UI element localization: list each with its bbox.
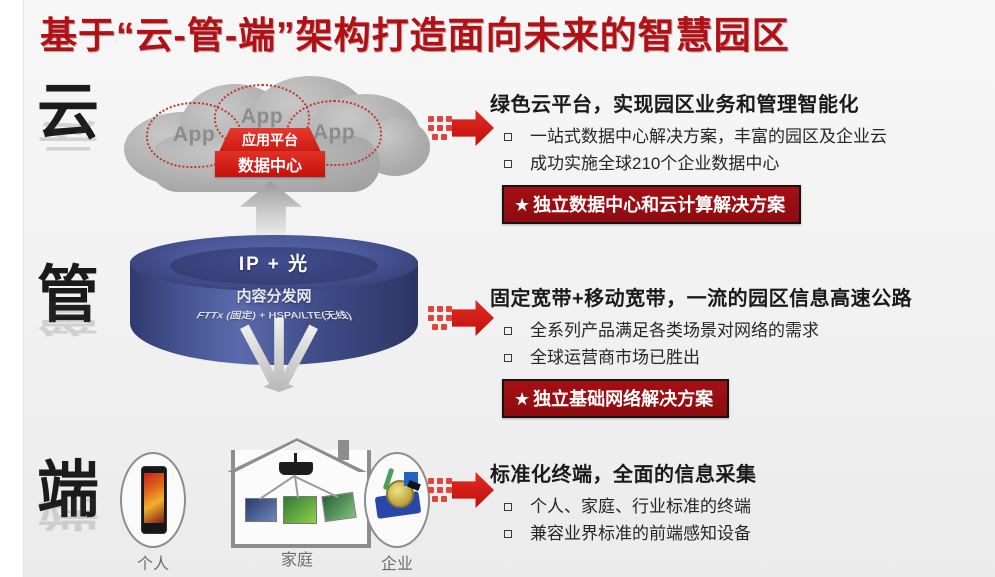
house-chimney bbox=[338, 440, 349, 460]
pillar-label-pipe-reflection: 管 bbox=[26, 307, 110, 329]
device-label-personal: 个人 bbox=[108, 550, 198, 574]
laptop-icon bbox=[245, 498, 277, 522]
section-terminal: 标准化终端，全面的信息采集 个人、家庭、行业标准的终端 兼容业界标准的前端感知设… bbox=[490, 458, 995, 547]
device-group-personal: 个人 bbox=[108, 452, 198, 574]
status-badge-cloud: ★独立数据中心和云计算解决方案 bbox=[502, 185, 801, 224]
red-arrow-icon-cloud bbox=[428, 108, 494, 148]
cylinder-line-1: IP + 光 bbox=[130, 249, 418, 276]
access-point-icon bbox=[279, 462, 313, 475]
cylinder-line-3: FTTx (固定) + HSPA/LTE(无线) bbox=[122, 309, 425, 322]
list-item: 一站式数据中心解决方案，丰富的园区及企业云 bbox=[490, 123, 995, 150]
meter-chip bbox=[404, 472, 418, 486]
house-icon bbox=[223, 442, 371, 544]
monitor-icon bbox=[283, 496, 317, 524]
left-margin bbox=[0, 0, 24, 577]
section-heading-terminal: 标准化终端，全面的信息采集 bbox=[490, 458, 995, 487]
phone-body bbox=[141, 466, 167, 534]
meter-icon bbox=[364, 452, 430, 548]
bullet-list-terminal: 个人、家庭、行业标准的终端 兼容业界标准的前端感知设备 bbox=[490, 493, 995, 547]
list-item: 兼容业界标准的前端感知设备 bbox=[490, 520, 995, 547]
smartphone-icon bbox=[120, 452, 186, 548]
meter-assembly bbox=[374, 468, 422, 530]
phone-screen bbox=[144, 473, 164, 523]
section-pipe: 固定宽带+移动宽带，一流的园区信息高速公路 全系列产品满足各类场景对网络的需求 … bbox=[490, 282, 995, 418]
page-title: 基于“云-管-端”架构打造面向未来的智慧园区 bbox=[40, 14, 940, 58]
section-heading-cloud: 绿色云平台，实现园区业务和管理智能化 bbox=[490, 88, 995, 117]
star-icon: ★ bbox=[514, 389, 530, 409]
bullet-list-pipe: 全系列产品满足各类场景对网络的需求 全球运营商市场已胜出 bbox=[490, 317, 995, 371]
list-item: 全系列产品满足各类场景对网络的需求 bbox=[490, 317, 995, 344]
pillar-label-terminal-reflection: 端 bbox=[26, 502, 110, 524]
pillar-label-cloud: 云 云 bbox=[26, 82, 110, 186]
arrow-head bbox=[452, 472, 494, 508]
section-heading-pipe: 固定宽带+移动宽带，一流的园区信息高速公路 bbox=[490, 282, 995, 311]
red-arrow-icon-pipe bbox=[428, 298, 494, 338]
slide-canvas: 基于“云-管-端”架构打造面向未来的智慧园区 云 云 管 管 端 端 App A… bbox=[0, 0, 995, 577]
list-item: 个人、家庭、行业标准的终端 bbox=[490, 493, 995, 520]
arrow-head bbox=[452, 110, 494, 146]
data-center-label: 数据中心 bbox=[215, 151, 325, 177]
status-badge-pipe-text: 独立基础网络解决方案 bbox=[533, 389, 713, 409]
list-item: 全球运营商市场已胜出 bbox=[490, 344, 995, 371]
device-group-home: 家庭 bbox=[222, 442, 372, 570]
list-item: 成功实施全球210个企业数据中心 bbox=[490, 150, 995, 177]
device-label-home: 家庭 bbox=[222, 546, 372, 570]
bullet-list-cloud: 一站式数据中心解决方案，丰富的园区及企业云 成功实施全球210个企业数据中心 bbox=[490, 123, 995, 177]
pillar-label-terminal: 端 端 bbox=[26, 460, 110, 564]
arrow-dots bbox=[428, 116, 454, 140]
arrow-dots bbox=[428, 306, 454, 330]
pillar-label-cloud-reflection: 云 bbox=[26, 124, 110, 146]
pillar-label-pipe: 管 管 bbox=[26, 265, 110, 369]
star-icon: ★ bbox=[514, 195, 530, 215]
cylinder-line-2: 内容分发网 bbox=[130, 285, 418, 306]
application-platform-label: 应用平台 bbox=[219, 128, 321, 152]
red-arrow-icon-terminal bbox=[428, 470, 494, 510]
network-cylinder-graphic: IP + 光 内容分发网 FTTx (固定) + HSPA/LTE(无线) bbox=[118, 235, 430, 395]
status-badge-cloud-text: 独立数据中心和云计算解决方案 bbox=[533, 195, 785, 215]
arrow-dots bbox=[428, 478, 454, 502]
arrow-head bbox=[452, 300, 494, 336]
section-cloud: 绿色云平台，实现园区业务和管理智能化 一站式数据中心解决方案，丰富的园区及企业云… bbox=[490, 88, 995, 224]
status-badge-pipe: ★独立基础网络解决方案 bbox=[502, 379, 729, 418]
device-label-enterprise: 企业 bbox=[352, 550, 442, 574]
